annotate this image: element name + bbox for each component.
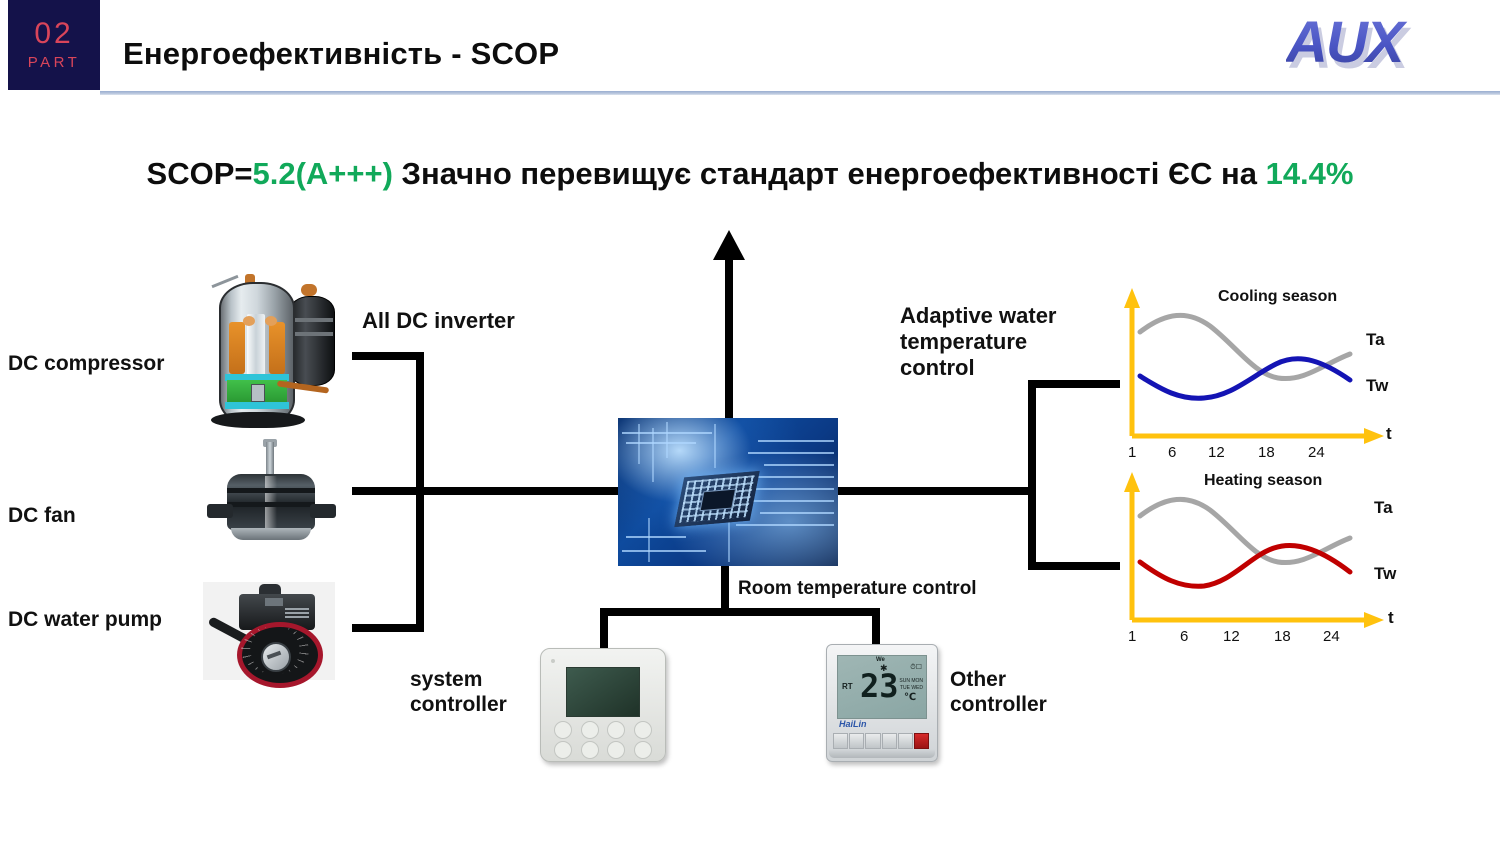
label-all-dc-inverter: All DC inverter — [362, 308, 515, 334]
thermostat-base — [829, 749, 935, 758]
heating-legend-tw: Tw — [1374, 564, 1396, 584]
heating-chart-svg — [1118, 470, 1408, 640]
sc-button[interactable] — [554, 741, 572, 759]
label-dc-fan: DC fan — [8, 504, 76, 529]
thermostat-power-key[interactable] — [914, 733, 929, 749]
dc-compressor-image — [205, 272, 338, 432]
heating-tick: 1 — [1128, 628, 1136, 645]
heating-tick: 12 — [1223, 628, 1240, 645]
wire-pcb-to-right — [838, 487, 1036, 495]
thermostat-weekdays: SUN MONTUE WED — [899, 678, 923, 691]
cooling-series-tw — [1140, 359, 1350, 398]
label-dc-water-pump: DC water pump — [8, 608, 162, 633]
cooling-xlabel: t — [1386, 424, 1392, 444]
heating-legend-ta: Ta — [1374, 498, 1393, 518]
wire-controllers-bus — [600, 608, 880, 616]
thermostat-lcd: We ✱ ⏱☐ RT 23 ℃ SUN MONTUE WED — [837, 655, 927, 719]
heating-series-tw — [1140, 545, 1350, 586]
thermostat-key[interactable] — [833, 733, 848, 749]
sc-button[interactable] — [634, 721, 652, 739]
heating-y-axis — [1124, 472, 1140, 620]
wire-heating-stub — [1028, 562, 1120, 570]
adaptive-line-2: temperature — [900, 329, 1057, 355]
sc-button[interactable] — [607, 741, 625, 759]
wire-to-system-controller — [600, 608, 608, 652]
system-controller-image — [540, 648, 666, 762]
heating-x-ticks: 1 6 12 18 24 — [1118, 628, 1408, 650]
cooling-y-axis — [1124, 288, 1140, 436]
other-controller-line-1: Other — [950, 668, 1047, 693]
heating-tick: 24 — [1323, 628, 1340, 645]
thermostat-key[interactable] — [865, 733, 880, 749]
heating-tick: 6 — [1180, 628, 1188, 645]
sc-button[interactable] — [634, 741, 652, 759]
wire-right-spine — [1028, 380, 1036, 570]
cooling-x-axis — [1132, 428, 1384, 444]
heating-tick: 18 — [1274, 628, 1291, 645]
thermostat-reading: 23 — [860, 670, 899, 702]
system-controller-line-2: controller — [410, 693, 507, 718]
cooling-tick: 1 — [1128, 444, 1136, 461]
dc-water-pump-image — [203, 582, 335, 680]
cooling-series-ta — [1140, 315, 1350, 378]
other-controller-line-2: controller — [950, 693, 1047, 718]
thermostat-key[interactable] — [849, 733, 864, 749]
cooling-tick: 24 — [1308, 444, 1325, 461]
thermostat-brand: HaiLin — [839, 719, 867, 729]
wire-compressor-stub — [352, 352, 424, 360]
clock-icon: ⏱☐ — [910, 663, 922, 672]
cooling-legend-ta: Ta — [1366, 330, 1385, 350]
cooling-x-ticks: 1 6 12 18 24 — [1118, 444, 1408, 466]
wire-pump-stub — [352, 624, 424, 632]
sc-button[interactable] — [581, 741, 599, 759]
thermostat-unit: ℃ — [904, 692, 916, 703]
sc-lcd-screen — [566, 667, 640, 717]
label-adaptive-water-temp-control: Adaptive water temperature control — [900, 303, 1057, 381]
cooling-tick: 12 — [1208, 444, 1225, 461]
heating-season-chart: Heating season Ta Tw t 1 6 12 18 24 — [1118, 470, 1408, 640]
wire-left-to-pcb — [416, 487, 618, 495]
cooling-tick: 6 — [1168, 444, 1176, 461]
label-system-controller: system controller — [410, 668, 507, 718]
other-controller-image: We ✱ ⏱☐ RT 23 ℃ SUN MONTUE WED HaiLin — [826, 644, 938, 762]
thermostat-key-row[interactable] — [833, 733, 929, 749]
wire-pcb-down — [721, 566, 729, 614]
thermostat-mode: RT — [842, 682, 853, 691]
cooling-tick: 18 — [1258, 444, 1275, 461]
cooling-chart-svg — [1118, 286, 1408, 456]
system-controller-line-1: system — [410, 668, 507, 693]
sc-button[interactable] — [554, 721, 572, 739]
sc-button[interactable] — [581, 721, 599, 739]
cooling-season-chart: Cooling season Ta Tw t 1 6 12 18 24 — [1118, 286, 1408, 456]
up-arrow — [707, 230, 751, 420]
adaptive-line-3: control — [900, 355, 1057, 381]
thermostat-key[interactable] — [898, 733, 913, 749]
label-room-temperature-control: Room temperature control — [738, 578, 977, 600]
dc-fan-image — [205, 442, 338, 550]
wire-fan-stub — [352, 487, 424, 495]
cooling-legend-tw: Tw — [1366, 376, 1388, 396]
sc-button[interactable] — [607, 721, 625, 739]
label-dc-compressor: DC compressor — [8, 352, 164, 377]
heating-xlabel: t — [1388, 608, 1394, 628]
adaptive-line-1: Adaptive water — [900, 303, 1057, 329]
cooling-chart-title: Cooling season — [1218, 288, 1337, 306]
heating-chart-title: Heating season — [1204, 472, 1322, 490]
thermostat-key[interactable] — [882, 733, 897, 749]
sc-power-led — [551, 659, 555, 663]
heating-x-axis — [1132, 612, 1384, 628]
inverter-pcb-image — [618, 418, 838, 566]
sc-button-pad[interactable] — [551, 721, 655, 755]
system-diagram: DC compressor DC fan DC water pump — [0, 0, 1500, 844]
label-other-controller: Other controller — [950, 668, 1047, 718]
wire-cooling-stub — [1028, 380, 1120, 388]
